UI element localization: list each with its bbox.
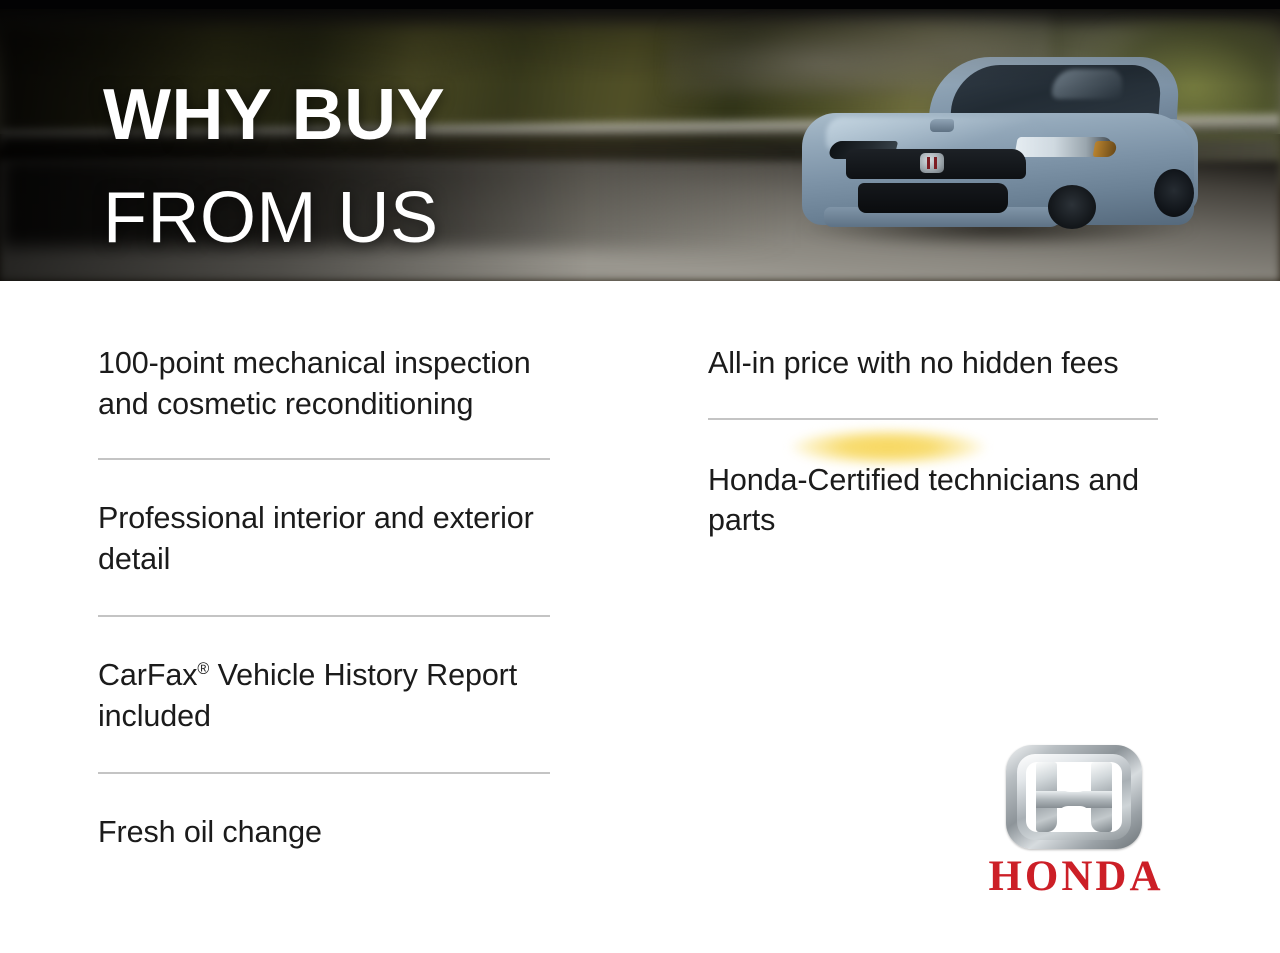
feature-item-carfax: CarFax® Vehicle History Report included (98, 655, 550, 736)
feature-text-oil-change: Fresh oil change (98, 812, 550, 853)
top-black-bar (0, 0, 1280, 9)
honda-h-emblem-icon (1006, 745, 1142, 849)
feature-text-carfax: CarFax® Vehicle History Report included (98, 655, 550, 736)
hero-headline-line2: FROM US (103, 185, 445, 252)
honda-wordmark: HONDA (958, 855, 1194, 898)
feature-item-detail: Professional interior and exterior detai… (98, 498, 550, 579)
feature-item-oil-change: Fresh oil change (98, 812, 550, 853)
feature-text-all-in-price: All-in price with no hidden fees (708, 343, 1158, 384)
hero-headline-line1: WHY BUY (103, 82, 445, 149)
hero-banner: WHY BUY FROM US (0, 9, 1280, 281)
honda-logo: HONDA (958, 745, 1194, 895)
feature-item-all-in-price: All-in price with no hidden fees (708, 343, 1158, 384)
hero-headline: WHY BUY FROM US (103, 52, 445, 281)
features-left-column: 100-point mechanical inspection and cosm… (98, 281, 550, 853)
feature-divider-3 (98, 772, 550, 774)
emblem-notch-top (1057, 762, 1091, 792)
why-buy-from-us-slide: WHY BUY FROM US 100-point mechanical ins… (0, 0, 1280, 953)
carfax-brand-name: CarFax (98, 658, 197, 692)
feature-item-honda-certified: Honda-Certified technicians and parts (708, 460, 1158, 541)
registered-trademark-icon: ® (197, 660, 209, 678)
feature-text-detail: Professional interior and exterior detai… (98, 498, 550, 579)
feature-divider-4 (708, 418, 1158, 420)
feature-divider-1 (98, 458, 550, 460)
features-right-column: All-in price with no hidden fees Honda-C… (708, 281, 1158, 541)
feature-divider-2 (98, 615, 550, 617)
yellow-highlighter-mark (790, 430, 986, 464)
emblem-notch-bottom (1057, 806, 1091, 832)
feature-text-honda-certified: Honda-Certified technicians and parts (708, 460, 1158, 541)
feature-text-inspection: 100-point mechanical inspection and cosm… (98, 343, 550, 424)
feature-item-inspection: 100-point mechanical inspection and cosm… (98, 343, 550, 424)
